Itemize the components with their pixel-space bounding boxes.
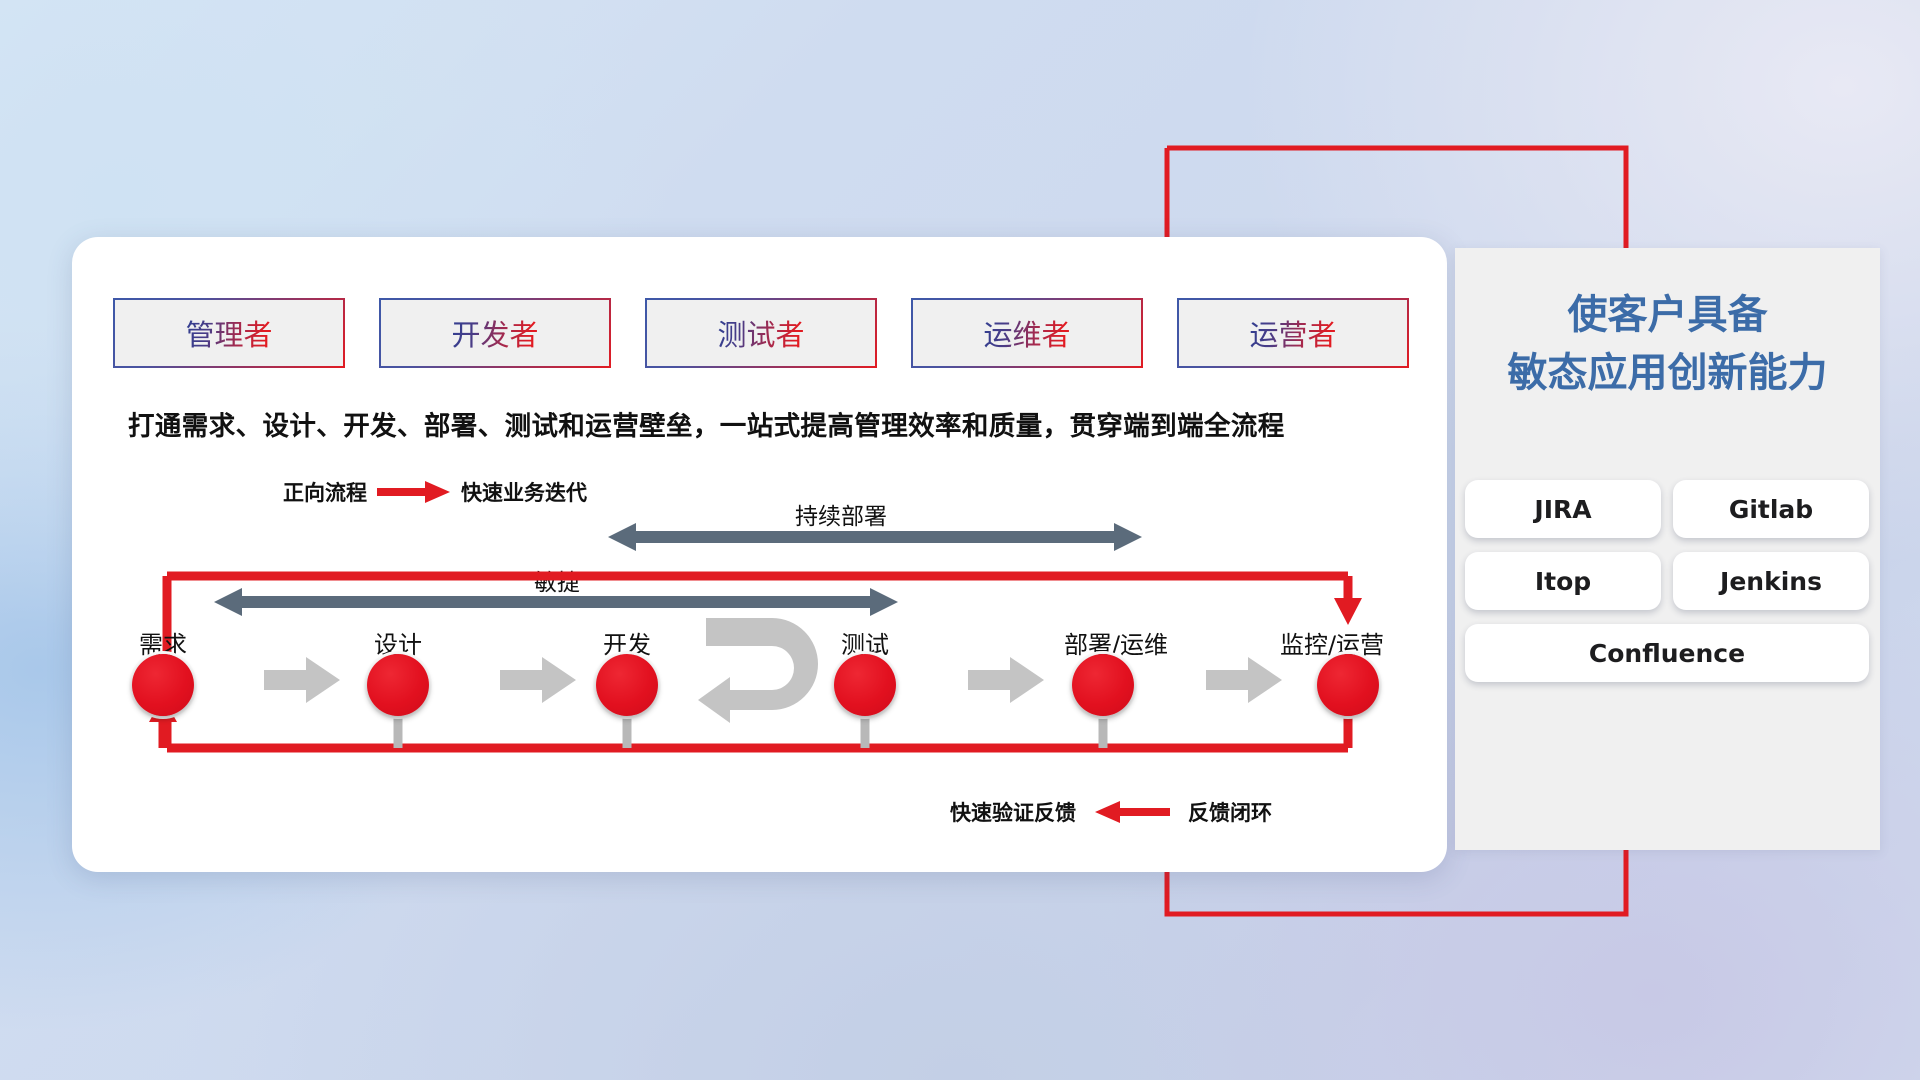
stage-node-monitor-operations[interactable] [1317,654,1379,716]
stage-node-requirement[interactable] [132,654,194,716]
tool-chip-gitlab[interactable]: Gitlab [1673,480,1869,538]
stage-node-deploy-ops[interactable] [1072,654,1134,716]
tool-chip-list: JIRA Gitlab Itop Jenkins Confluence [1465,480,1870,682]
tool-chip-label: Gitlab [1729,495,1813,524]
slide-canvas: 管理者 开发者 测试者 运维者 运营者 打通需求、设计、开发、部署、测试和运营壁… [0,0,1920,1080]
block-arrow-2 [500,657,576,703]
stage-node-design[interactable] [367,654,429,716]
tool-chip-label: Confluence [1589,639,1745,668]
block-arrow-4 [968,657,1044,703]
stage-node-test[interactable] [834,654,896,716]
block-arrow-5 [1206,657,1282,703]
block-arrow-1 [264,657,340,703]
loop-back-arrow [698,618,818,723]
double-arrow-continuous-deployment [608,523,1142,551]
value-panel-title-line1: 使客户具备 [1455,286,1880,344]
value-panel-title-line2: 敏态应用创新能力 [1455,344,1880,402]
tool-chip-jenkins[interactable]: Jenkins [1673,552,1869,610]
tool-chip-jira[interactable]: JIRA [1465,480,1661,538]
double-arrow-agile [214,588,898,616]
tool-chip-confluence[interactable]: Confluence [1465,624,1869,682]
tool-chip-label: Jenkins [1720,567,1822,596]
tool-chip-label: JIRA [1534,495,1591,524]
tool-chip-itop[interactable]: Itop [1465,552,1661,610]
stage-label-deploy-ops: 部署/运维 [1064,625,1168,660]
stage-node-develop[interactable] [596,654,658,716]
tool-chip-label: Itop [1535,567,1591,596]
stage-label-monitor-operations: 监控/运营 [1280,625,1384,660]
value-panel-title: 使客户具备 敏态应用创新能力 [1455,286,1880,402]
